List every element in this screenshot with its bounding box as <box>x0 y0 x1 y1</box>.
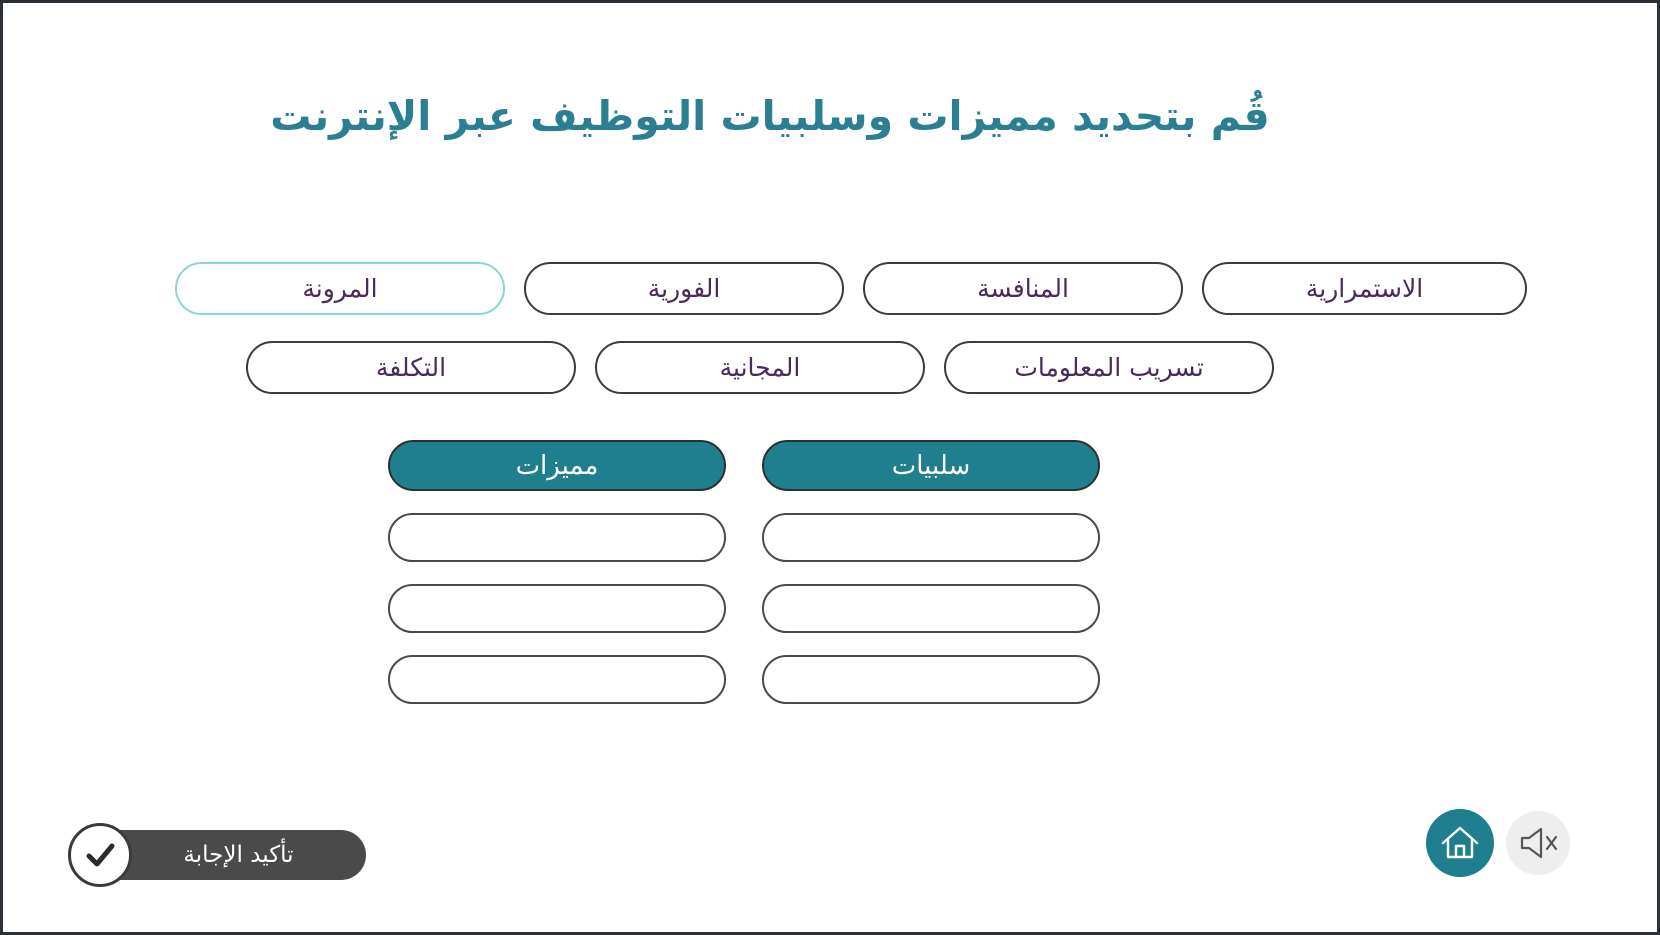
drop-slot-salbiyyat-1[interactable] <box>762 513 1100 562</box>
column-header-mumayyizat[interactable]: مميزات <box>388 440 726 491</box>
drop-slot-mumayyizat-3[interactable] <box>388 655 726 704</box>
speaker-mute-button[interactable] <box>1506 811 1570 875</box>
chip-munafasa[interactable]: المنافسة <box>863 262 1183 315</box>
chip-tasreeb-almaloomat[interactable]: تسريب المعلومات <box>944 341 1274 394</box>
drop-slot-mumayyizat-1[interactable] <box>388 513 726 562</box>
home-button[interactable] <box>1426 809 1494 877</box>
chip-marounah[interactable]: المرونة <box>175 262 505 315</box>
chip-fawriya[interactable]: الفورية <box>524 262 844 315</box>
confirm-answer-button[interactable]: تأكيد الإجابة <box>71 830 366 880</box>
draggable-chip-row-1: المرونة الفورية المنافسة الاستمرارية <box>175 262 1527 315</box>
category-columns: مميزات سلبيات <box>388 440 1100 704</box>
chip-majaniya[interactable]: المجانية <box>595 341 925 394</box>
drop-slot-salbiyyat-3[interactable] <box>762 655 1100 704</box>
bottom-controls <box>1426 809 1570 877</box>
home-icon <box>1440 824 1480 862</box>
chip-istimrariya[interactable]: الاستمرارية <box>1202 262 1527 315</box>
drop-slot-salbiyyat-2[interactable] <box>762 584 1100 633</box>
chip-taklifa[interactable]: التكلفة <box>246 341 576 394</box>
speaker-mute-icon <box>1518 826 1558 860</box>
draggable-chip-row-2: التكلفة المجانية تسريب المعلومات <box>246 341 1274 394</box>
check-circle-icon <box>68 823 132 887</box>
column-header-salbiyyat[interactable]: سلبيات <box>762 440 1100 491</box>
drop-slot-mumayyizat-2[interactable] <box>388 584 726 633</box>
page-title: قُم بتحديد مميزات وسلبيات التوظيف عبر ال… <box>63 91 1597 142</box>
column-mumayyizat: مميزات <box>388 440 726 704</box>
activity-screen: قُم بتحديد مميزات وسلبيات التوظيف عبر ال… <box>0 0 1660 935</box>
column-salbiyyat: سلبيات <box>762 440 1100 704</box>
